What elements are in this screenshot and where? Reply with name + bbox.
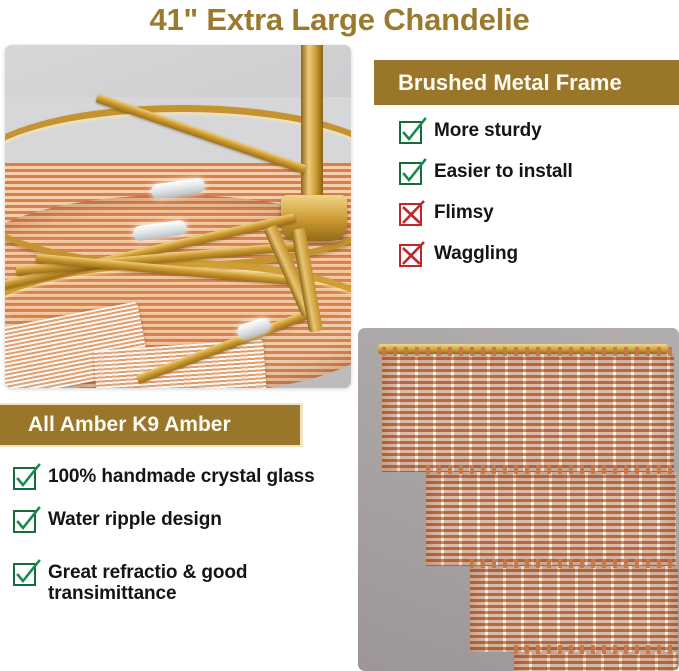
list-item: Waggling — [400, 243, 679, 266]
feature-list-all-amber-k9: 100% handmade crystal glass Water ripple… — [14, 466, 344, 625]
crystal-tier — [382, 354, 674, 472]
list-item-label: Great refractio & good transimittance — [48, 562, 310, 605]
check-icon — [14, 564, 35, 585]
list-item-label: 100% handmade crystal glass — [48, 466, 315, 487]
list-item: More sturdy — [400, 120, 679, 143]
banner-brushed-metal-frame: Brushed Metal Frame — [374, 60, 679, 105]
list-item-label: Easier to install — [434, 161, 573, 182]
check-icon — [14, 468, 35, 489]
crystal-tier — [514, 652, 678, 671]
crystal-tier — [426, 472, 676, 566]
list-item: 100% handmade crystal glass — [14, 466, 344, 489]
list-item-label: Flimsy — [434, 202, 494, 223]
feature-list-brushed-metal-frame: More sturdy Easier to install Flimsy — [400, 120, 679, 284]
check-icon — [14, 511, 35, 532]
cross-icon — [400, 204, 421, 225]
banner-label: All Amber K9 Amber — [28, 413, 231, 437]
list-item: Great refractio & good transimittance — [14, 562, 344, 605]
list-item-label: More sturdy — [434, 120, 542, 141]
list-item: Water ripple design — [14, 509, 344, 532]
banner-all-amber-k9: All Amber K9 Amber — [0, 403, 303, 447]
center-stem — [301, 45, 323, 209]
list-item-label: Water ripple design — [48, 509, 222, 530]
crystal-tier — [470, 566, 678, 652]
amber-crystal-tiers-photo — [358, 328, 679, 671]
list-item-label: Waggling — [434, 243, 518, 264]
chandelier-frame-photo — [5, 45, 351, 388]
list-item: Flimsy — [400, 202, 679, 225]
list-item: Easier to install — [400, 161, 679, 184]
cross-icon — [400, 245, 421, 266]
banner-label: Brushed Metal Frame — [398, 70, 622, 96]
page-title: 41" Extra Large Chandelie — [0, 0, 679, 44]
check-icon — [400, 163, 421, 184]
check-icon — [400, 122, 421, 143]
